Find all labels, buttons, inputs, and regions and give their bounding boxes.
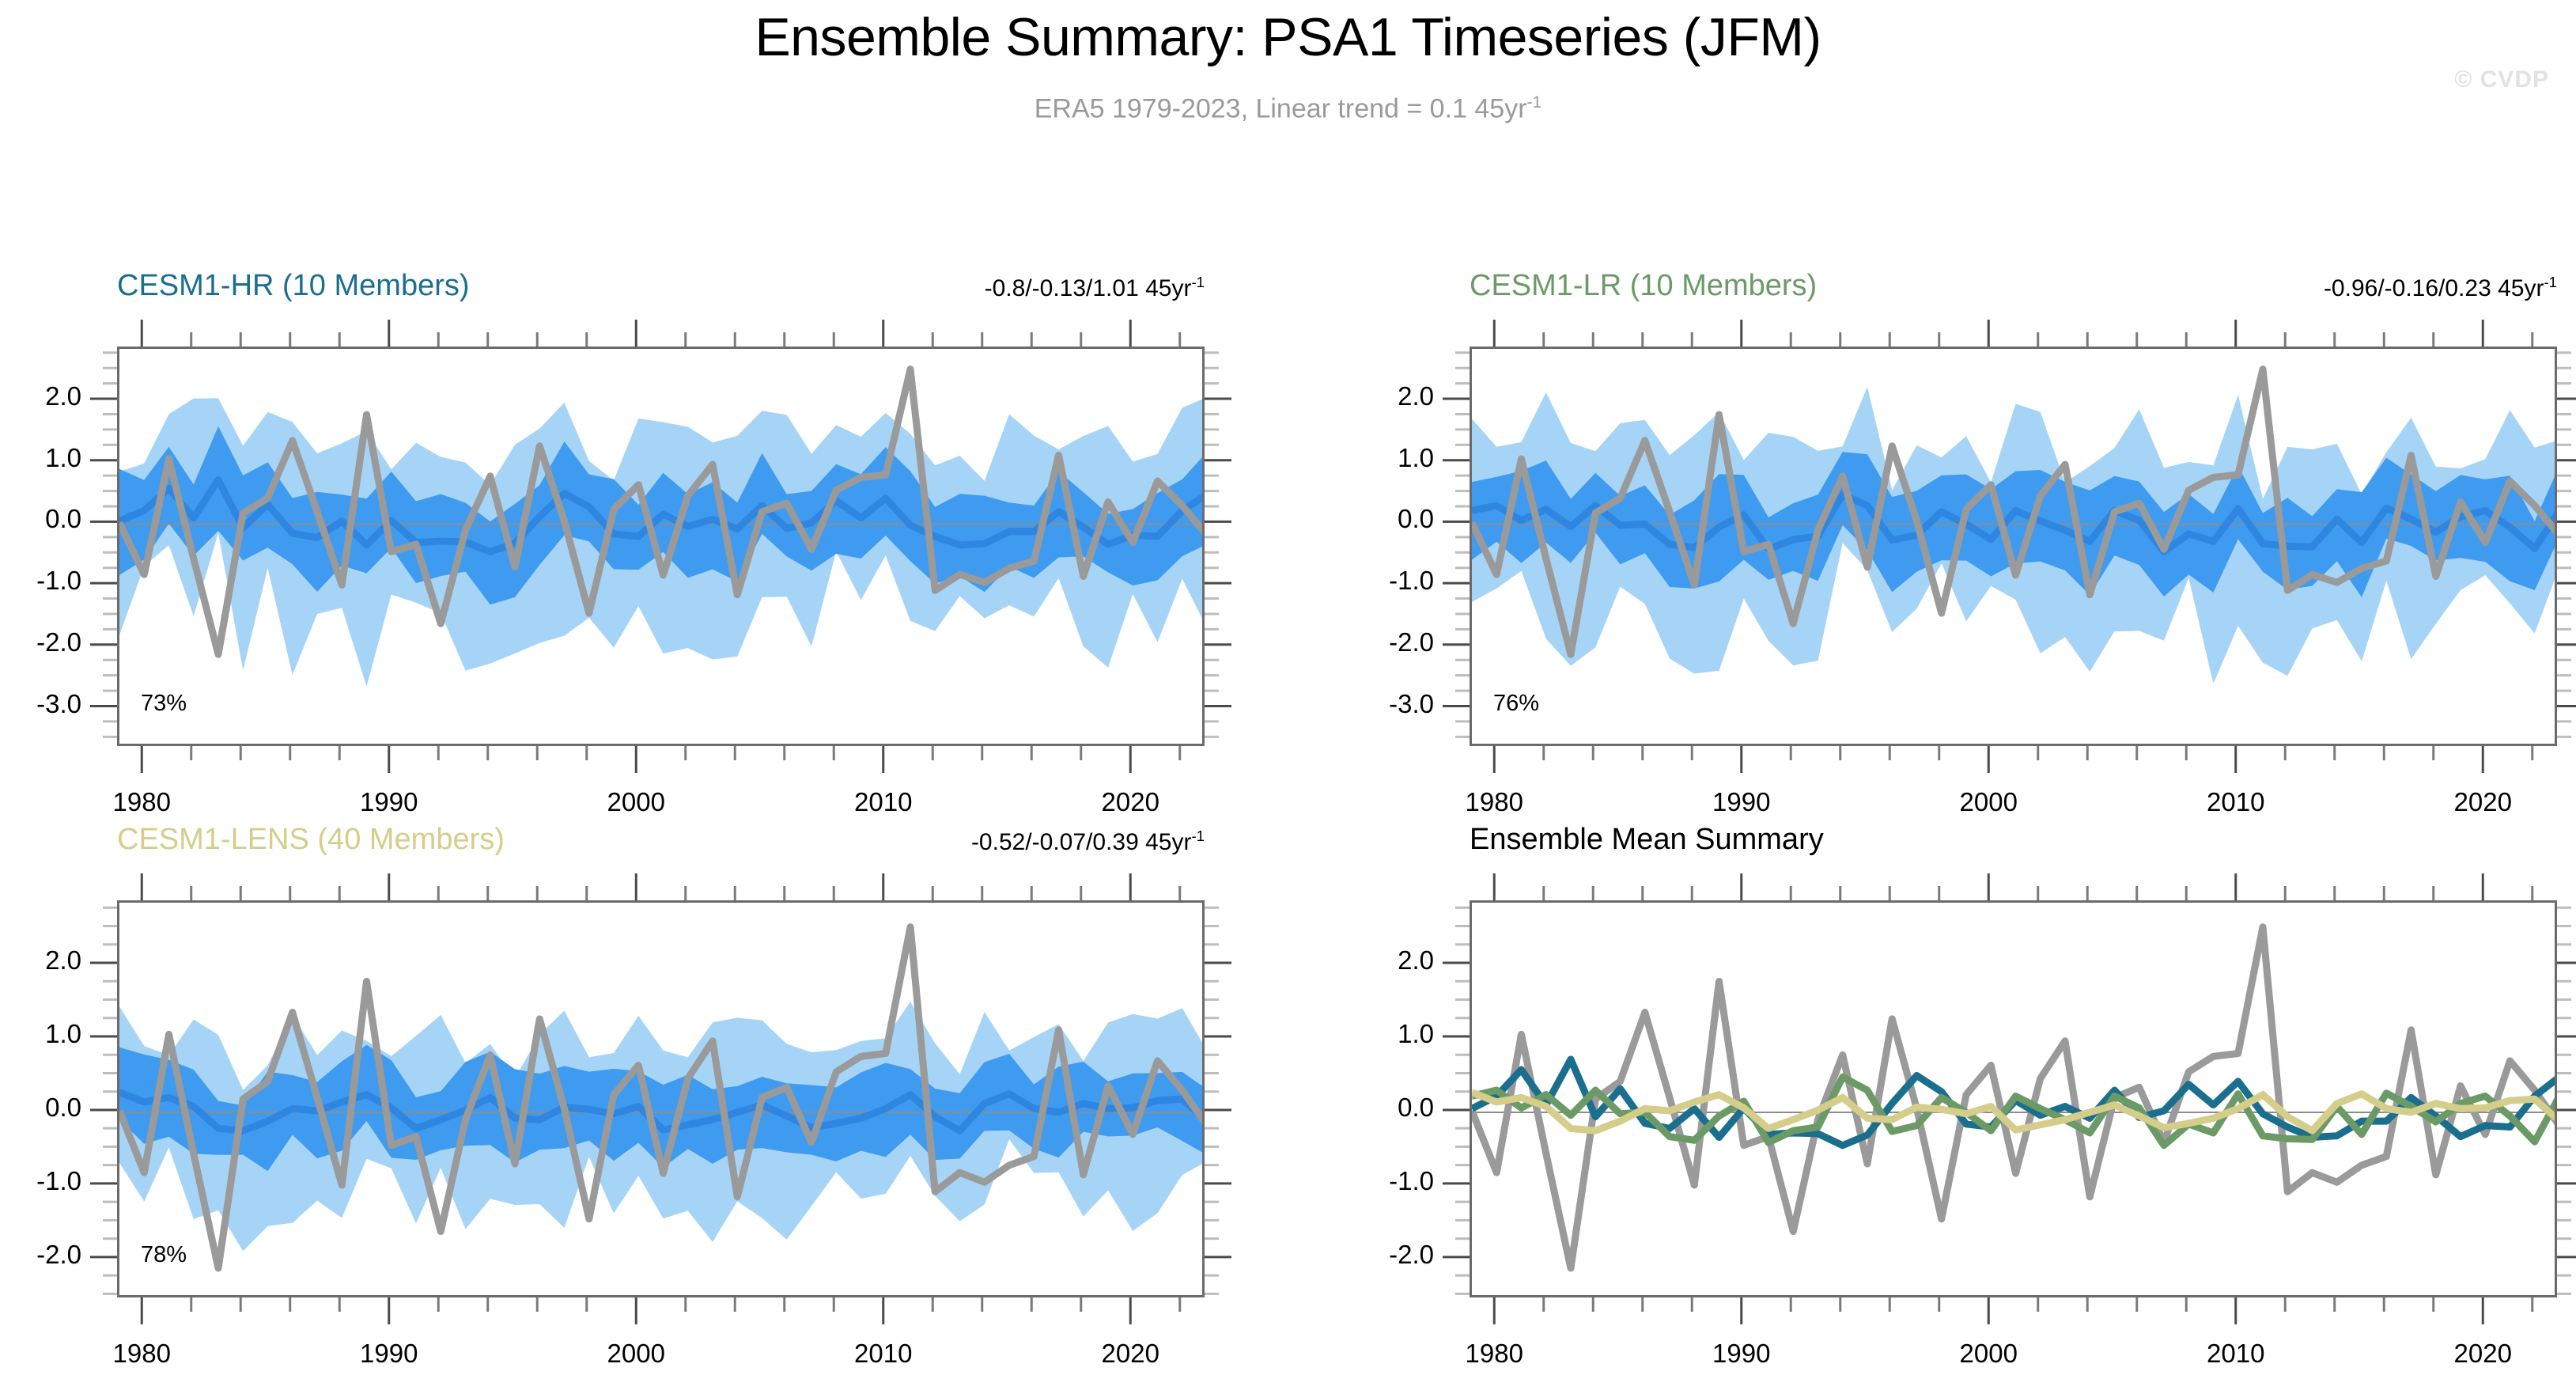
plot-canvas-cesm1-lr <box>1472 349 2557 746</box>
subtitle-exponent: -1 <box>1527 93 1542 112</box>
plot-canvas-cesm1-hr <box>119 349 1205 746</box>
y-axis-tick-label: -1.0 <box>0 1166 81 1196</box>
panel-title-cesm1-hr: CESM1-HR (10 Members) <box>117 269 470 303</box>
y-axis-tick-label: 0.0 <box>0 1093 81 1123</box>
y-axis-tick-label: 2.0 <box>1347 945 1434 975</box>
y-axis-tick-label: 1.0 <box>1347 1019 1434 1049</box>
x-axis-tick-label: 1990 <box>326 787 452 817</box>
trend-exponent: -1 <box>1191 274 1205 290</box>
plot-area-ensemble-mean-summary <box>1470 900 2557 1297</box>
y-axis-tick-label: -1.0 <box>0 566 81 596</box>
trend-exponent: -1 <box>1191 828 1205 844</box>
percent-in-range-label: 78% <box>141 1242 187 1268</box>
panel-trend-cesm1-lr: -0.96/-0.16/0.23 45yr-1 <box>2003 274 2557 302</box>
y-axis-tick-label: 2.0 <box>0 945 81 975</box>
y-axis-tick-label: 2.0 <box>1347 381 1434 411</box>
y-axis-tick-label: -2.0 <box>1347 627 1434 657</box>
trend-exponent: -1 <box>2544 274 2557 290</box>
plot-canvas-cesm1-lens <box>119 903 1205 1297</box>
x-axis-tick-label: 1990 <box>1678 1339 1805 1369</box>
y-axis-tick-label: -1.0 <box>1347 1166 1434 1196</box>
panel-title-cesm1-lr: CESM1-LR (10 Members) <box>1470 269 1817 303</box>
x-axis-tick-label: 1990 <box>326 1339 452 1369</box>
y-axis-tick-label: -2.0 <box>0 1240 81 1270</box>
y-axis-tick-label: 1.0 <box>0 1019 81 1049</box>
panel-title-ensemble-mean-summary: Ensemble Mean Summary <box>1470 823 1824 857</box>
x-axis-tick-label: 2020 <box>1067 787 1193 817</box>
panel-title-cesm1-lens: CESM1-LENS (40 Members) <box>117 823 505 857</box>
x-axis-tick-label: 2020 <box>2419 787 2546 817</box>
plot-area-cesm1-hr <box>117 347 1205 746</box>
x-axis-tick-label: 2000 <box>1925 1339 2052 1369</box>
plot-canvas-ensemble-mean-summary <box>1472 903 2557 1297</box>
y-axis-tick-label: -2.0 <box>0 627 81 657</box>
cvdp-watermark: © CVDP <box>2454 66 2549 93</box>
panel-trend-cesm1-lens: -0.52/-0.07/0.39 45yr-1 <box>651 828 1205 856</box>
plot-area-cesm1-lens <box>117 900 1205 1297</box>
percent-in-range-label: 76% <box>1493 691 1539 717</box>
chart-subtitle: ERA5 1979-2023, Linear trend = 0.1 45yr-… <box>0 93 2576 124</box>
y-axis-tick-label: 0.0 <box>1347 504 1434 534</box>
x-axis-tick-label: 2010 <box>2173 787 2299 817</box>
y-axis-tick-label: 0.0 <box>0 504 81 534</box>
y-axis-tick-label: -1.0 <box>1347 566 1434 596</box>
subtitle-text: ERA5 1979-2023, Linear trend = 0.1 45yr <box>1035 93 1527 123</box>
x-axis-tick-label: 1980 <box>78 1339 205 1369</box>
x-axis-tick-label: 2000 <box>573 787 699 817</box>
trend-value: -0.96/-0.16/0.23 45yr <box>2324 275 2544 301</box>
x-axis-tick-label: 1980 <box>1431 1339 1557 1369</box>
x-axis-tick-label: 1980 <box>1431 787 1557 817</box>
x-axis-tick-label: 2010 <box>2173 1339 2299 1369</box>
x-axis-tick-label: 2000 <box>573 1339 699 1369</box>
y-axis-tick-label: -3.0 <box>1347 689 1434 719</box>
percent-in-range-label: 73% <box>141 691 187 717</box>
x-axis-tick-label: 2020 <box>1067 1339 1193 1369</box>
x-axis-tick-label: 1980 <box>78 787 205 817</box>
trend-value: -0.52/-0.07/0.39 45yr <box>971 829 1192 855</box>
y-axis-tick-label: -2.0 <box>1347 1240 1434 1270</box>
y-axis-tick-label: 1.0 <box>0 443 81 473</box>
x-axis-tick-label: 2010 <box>820 787 947 817</box>
x-axis-tick-label: 1990 <box>1678 787 1805 817</box>
x-axis-tick-label: 2010 <box>820 1339 947 1369</box>
plot-area-cesm1-lr <box>1470 347 2557 746</box>
y-axis-tick-label: 2.0 <box>0 381 81 411</box>
y-axis-tick-label: 1.0 <box>1347 443 1434 473</box>
x-axis-tick-label: 2020 <box>2419 1339 2546 1369</box>
y-axis-tick-label: 0.0 <box>1347 1093 1434 1123</box>
page-title: Ensemble Summary: PSA1 Timeseries (JFM) <box>0 6 2576 68</box>
x-axis-tick-label: 2000 <box>1925 787 2052 817</box>
trend-value: -0.8/-0.13/1.01 45yr <box>985 275 1192 301</box>
panel-trend-cesm1-hr: -0.8/-0.13/1.01 45yr-1 <box>651 274 1205 302</box>
chart-page: Ensemble Summary: PSA1 Timeseries (JFM) … <box>0 0 2576 1394</box>
y-axis-tick-label: -3.0 <box>0 689 81 719</box>
